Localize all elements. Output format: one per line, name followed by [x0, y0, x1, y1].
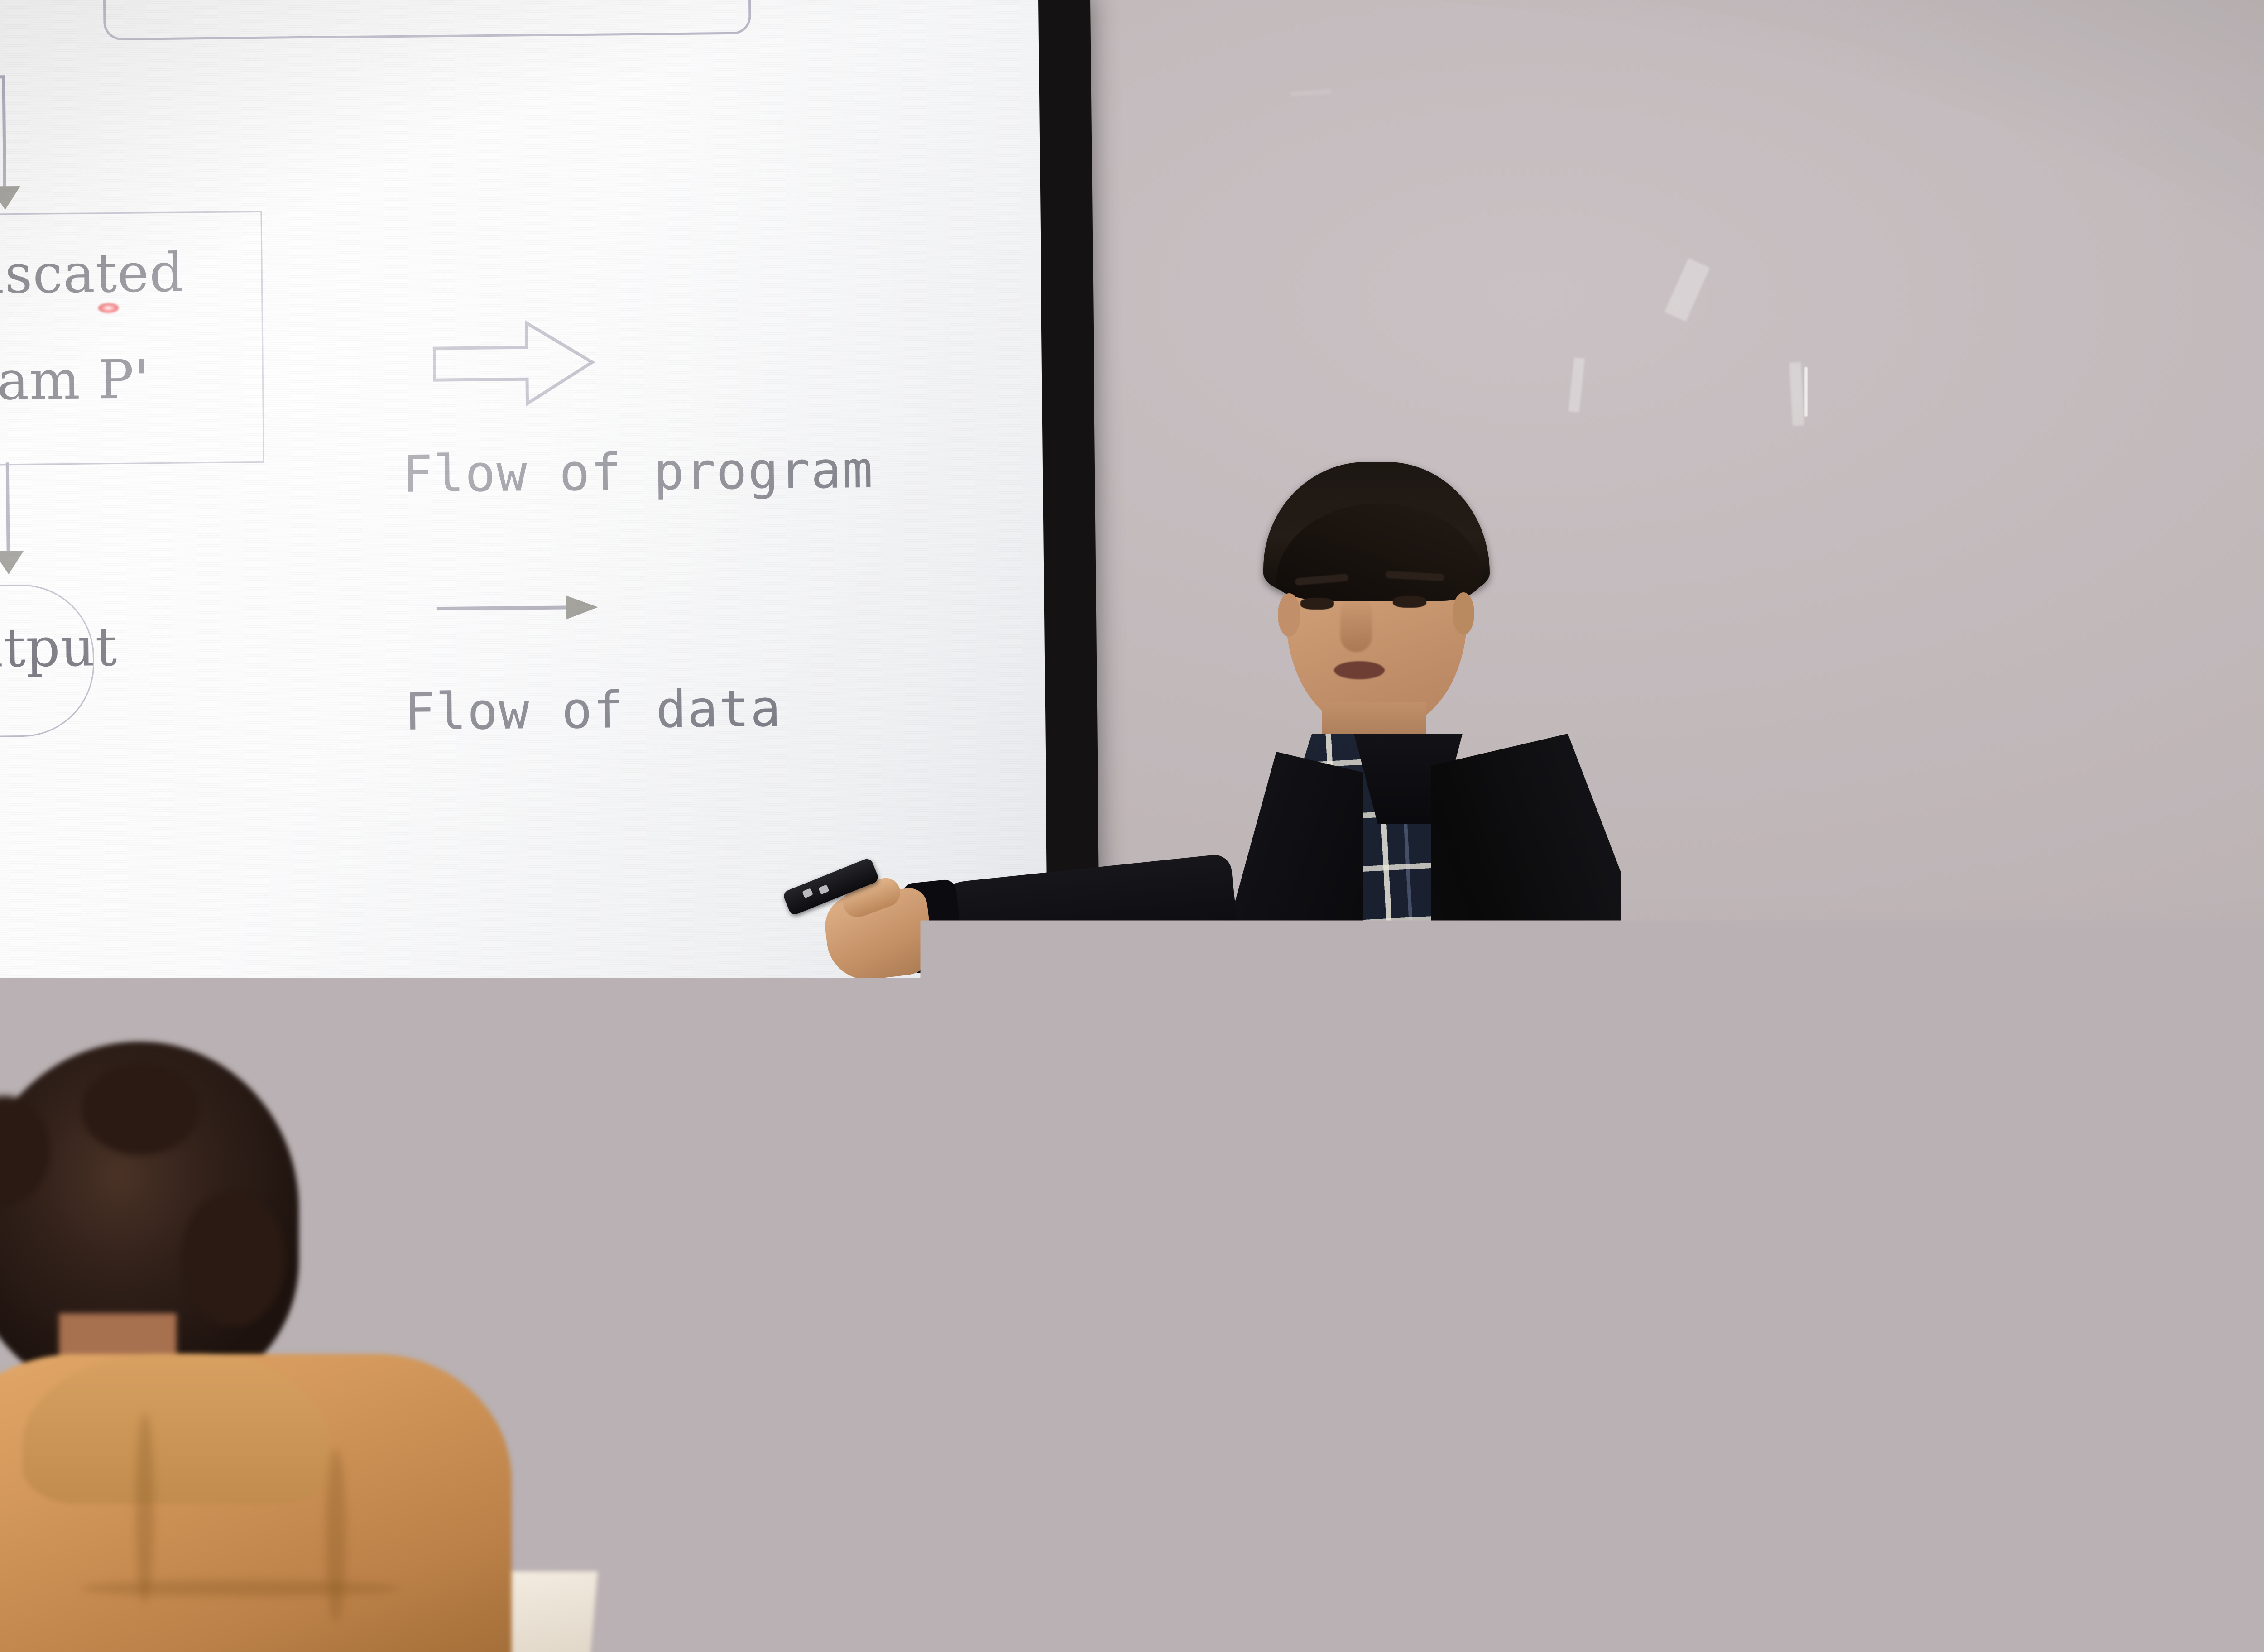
- lectern-screw: [1698, 1359, 1704, 1367]
- lectern-monitor: [1340, 1191, 1657, 1251]
- audience-member-left: [0, 1042, 625, 1652]
- flowchart-node-obfuscated-program-line1: uscated: [0, 241, 184, 306]
- presenter-mouth: [1334, 661, 1385, 679]
- legend-flow-of-program-label: Flow of program: [402, 441, 874, 504]
- lectern-screw: [1022, 1327, 1027, 1340]
- coat-fold: [326, 1449, 346, 1621]
- flowchart-connector-1-arrowhead: [0, 186, 20, 210]
- presenter-ear-left: [1278, 593, 1300, 637]
- flowchart-connector-1-line: [2, 75, 6, 188]
- lectern-screw: [1022, 1386, 1027, 1399]
- audience-member-right: [1902, 1023, 2264, 1652]
- photo-scene: uscated ram P' utput Flow of program: [0, 0, 2264, 1652]
- presenter-nose: [1340, 598, 1372, 652]
- audience-left-lower-dark: [0, 1626, 172, 1652]
- flowchart-node-obfuscated-program-line2: ram P': [0, 348, 150, 412]
- wall-tape-mark: [1804, 367, 1808, 417]
- legend-flow-of-data-label: Flow of data: [404, 679, 782, 742]
- lectern-left-edge: [1029, 1246, 1033, 1652]
- presenter-eye-right: [1393, 596, 1426, 608]
- lectern-panel-seam: [1282, 1246, 1284, 1652]
- clicker-button: [818, 884, 830, 894]
- block-arrow-svg: [432, 319, 596, 408]
- presenter-ear-right: [1453, 592, 1474, 635]
- flowchart-node-top-partial: [103, 0, 751, 40]
- projection-screen-frame: uscated ram P' utput Flow of program: [0, 0, 1101, 1151]
- coat-fold: [136, 1413, 154, 1603]
- presenter-figure: [1159, 462, 1657, 1259]
- lectern-screw: [1022, 1445, 1027, 1458]
- audience-right-hand: [1884, 1567, 2033, 1652]
- coat-fold: [82, 1580, 398, 1596]
- audience-left-coat-hood: [23, 1354, 331, 1503]
- flowchart-connector-2-line: [6, 462, 10, 560]
- audience-left-hair-curl: [82, 1064, 199, 1155]
- flowchart-node-output-label: utput: [0, 615, 118, 679]
- audience-left-hair-curl: [181, 1191, 285, 1327]
- presenter-eye-left: [1300, 598, 1334, 610]
- clicker-button: [802, 888, 813, 898]
- flowchart-connector-2-arrowhead: [0, 551, 24, 575]
- presenter-jacket-left-panel: [1214, 752, 1363, 1268]
- legend-flow-of-data-arrow-icon: [435, 593, 608, 625]
- presenter-jacket-right-panel: [1431, 734, 1621, 1268]
- projection-screen-pull-handle: [874, 1123, 889, 1191]
- legend-flow-of-program-arrow-icon: [432, 319, 596, 406]
- data-arrow-svg: [435, 593, 608, 624]
